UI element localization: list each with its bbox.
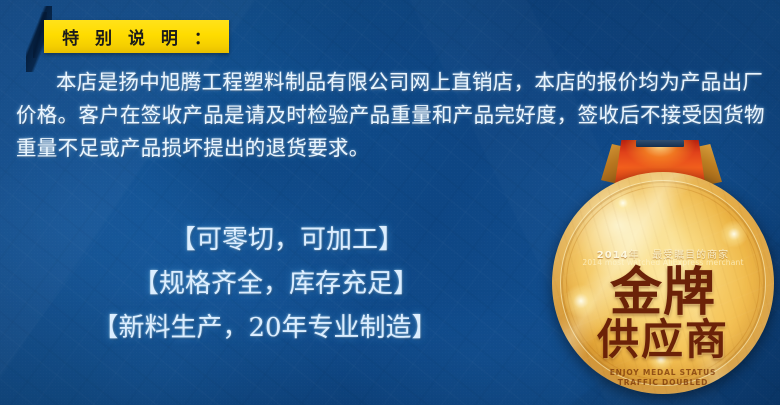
medal-disc: 2014年 最受瞩目的商家 2014 most watched AliExpre…	[552, 172, 774, 394]
slogan-line-3: 【新料生产，20年专业制造】	[0, 306, 560, 350]
medal-sparkle-icon	[612, 192, 634, 214]
slogan-line-2: 【规格齐全，库存充足】	[0, 262, 560, 306]
medal-footer-en-line-1: ENJOY MEDAL STATUS	[552, 368, 774, 378]
slogan-list: 【可零切，可加工】 【规格齐全，库存充足】 【新料生产，20年专业制造】	[0, 218, 560, 350]
medal-footer-en: ENJOY MEDAL STATUS TRAFFIC DOUBLED	[552, 368, 774, 388]
medal-title-line-2: 供应商	[552, 319, 774, 361]
medal-ribbon-clip	[636, 140, 684, 147]
medal-sparkle-icon	[720, 220, 748, 248]
medal-title-line-1: 金牌	[552, 269, 774, 317]
medal-footer-en-line-2: TRAFFIC DOUBLED	[552, 378, 774, 388]
special-notice-banner: 特 别 说 明 ：	[44, 20, 229, 53]
special-notice-banner-label: 特 别 说 明 ：	[57, 24, 216, 49]
slogan-line-1: 【可零切，可加工】	[14, 218, 560, 262]
gold-medal-badge: 2014年 最受瞩目的商家 2014 most watched AliExpre…	[546, 140, 780, 405]
promo-banner-image: 特 别 说 明 ： 本店是扬中旭腾工程塑料制品有限公司网上直销店，本店的报价均为…	[0, 0, 780, 405]
